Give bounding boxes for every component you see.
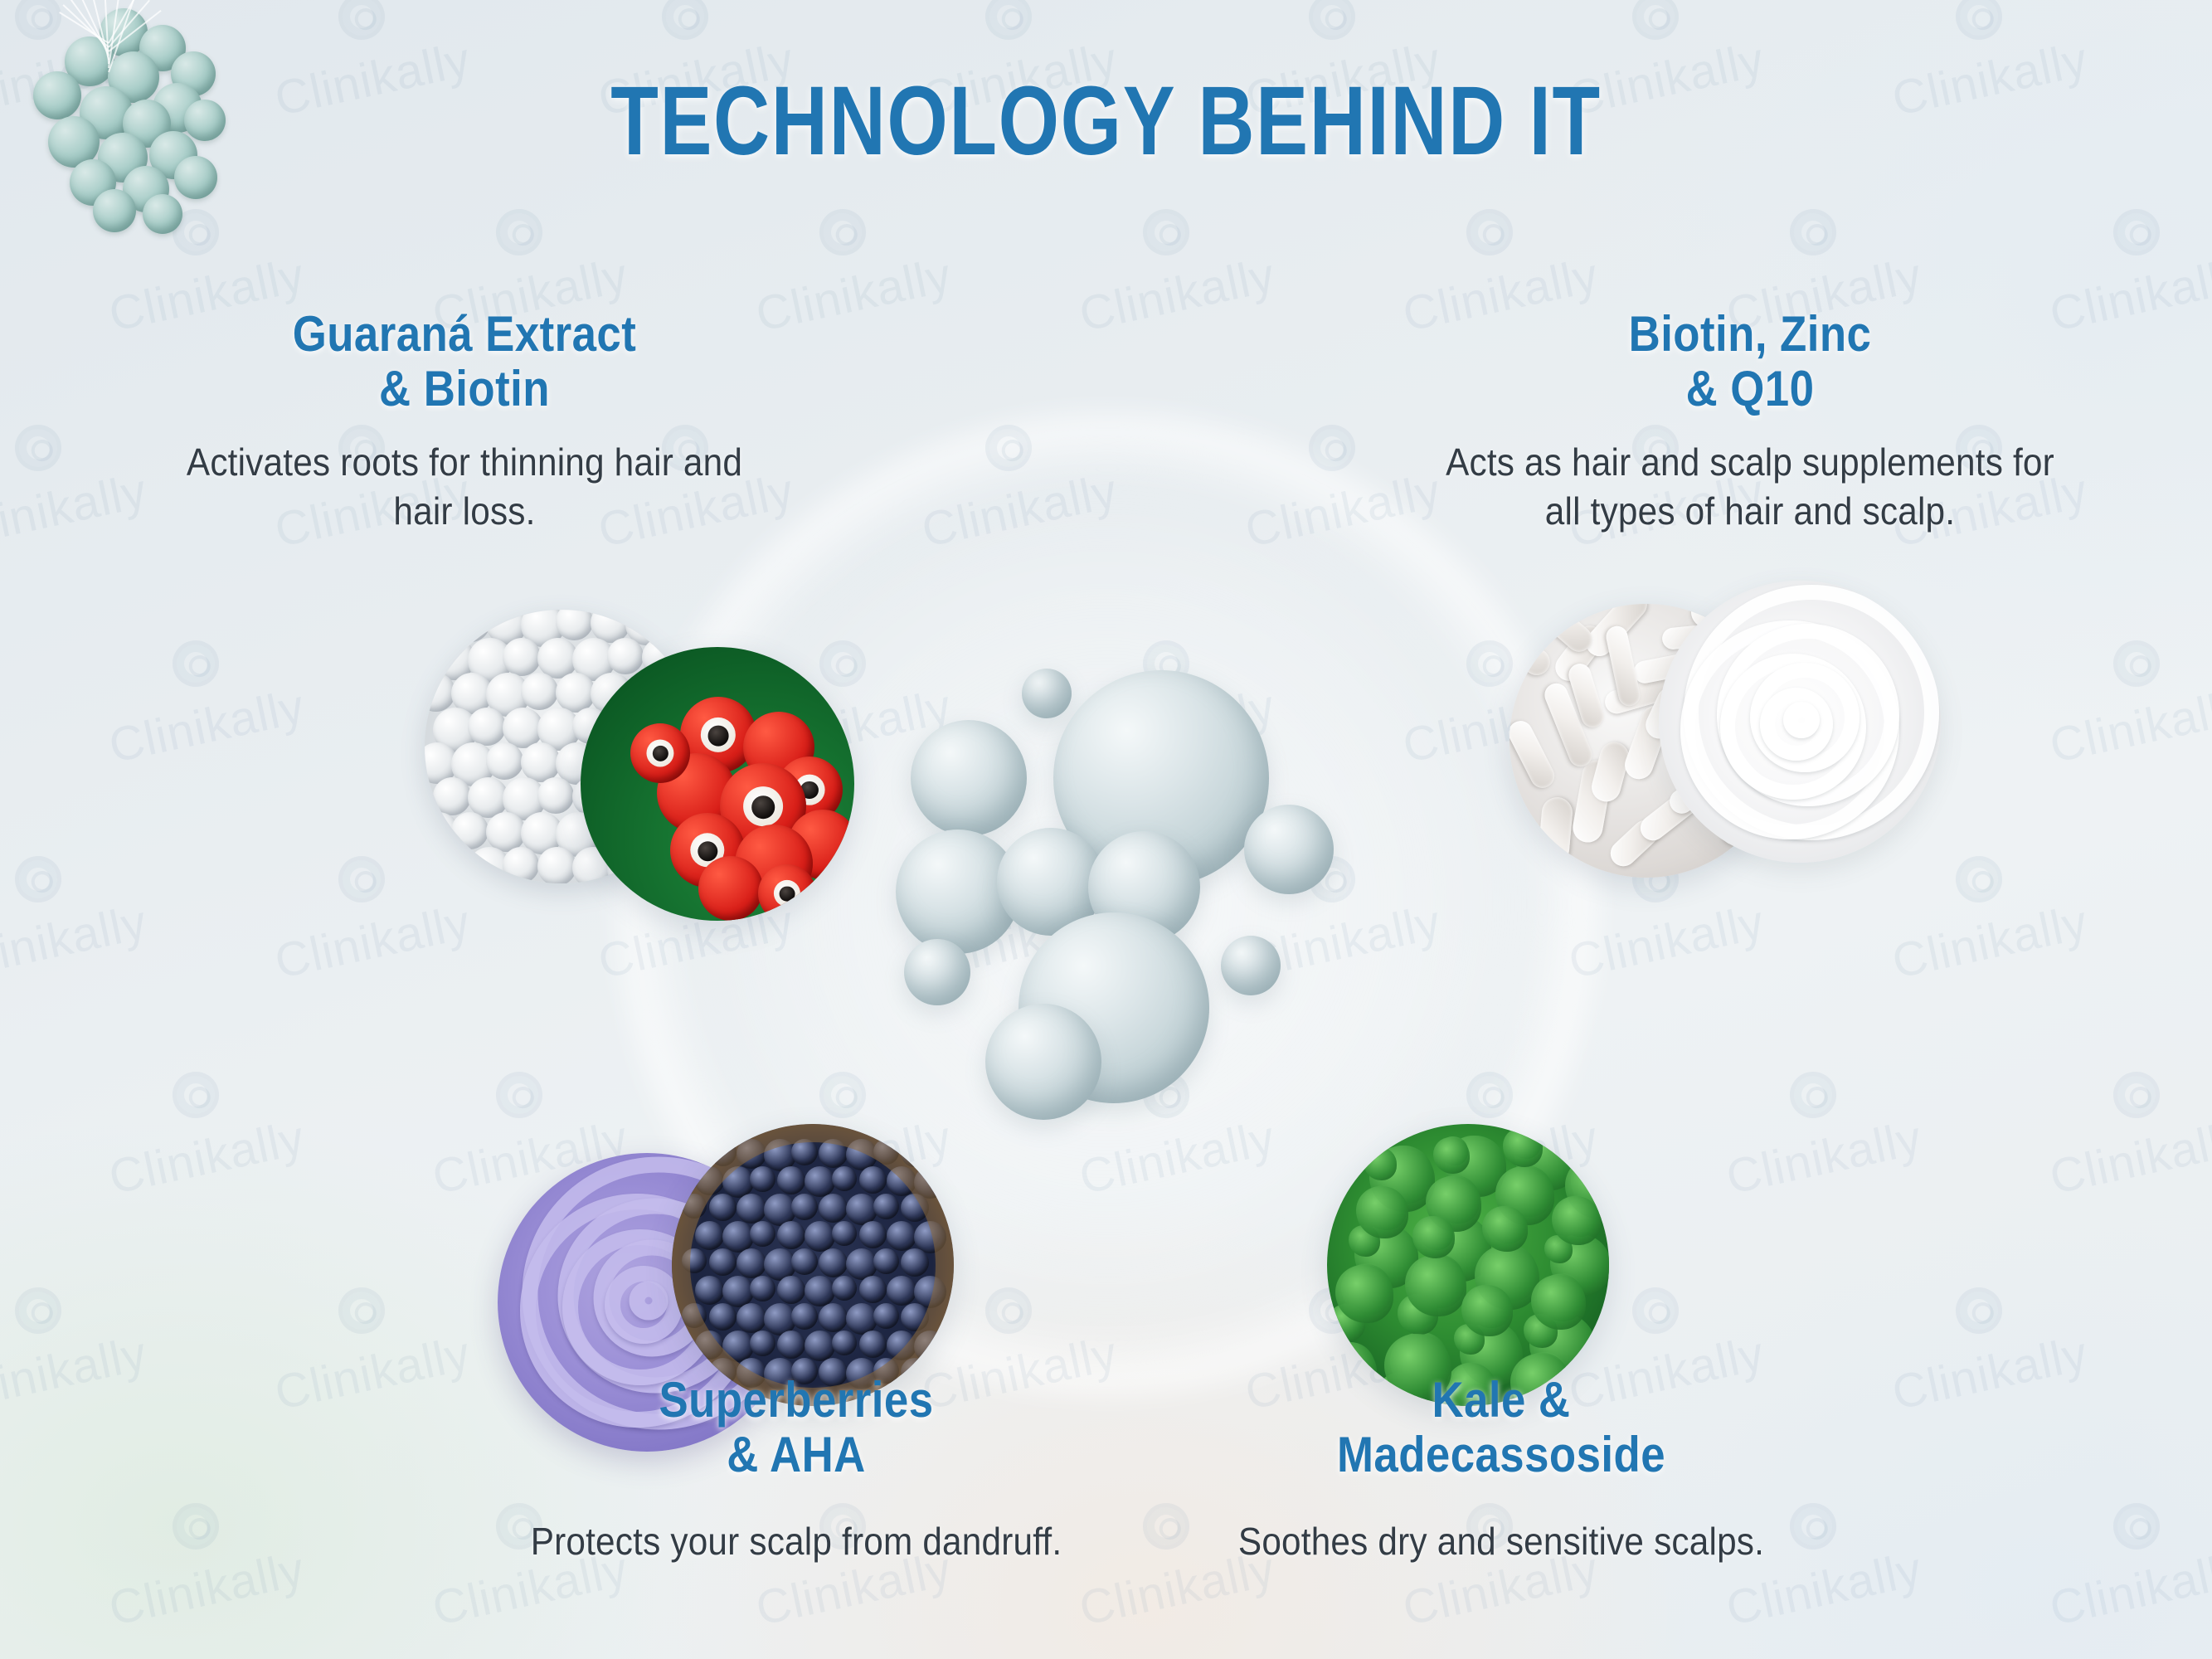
ingredient-block-bottom-left: Superberries & AHA Protects your scalp f… (448, 1373, 1145, 1566)
watermark-logo-icon (1628, 0, 1683, 44)
ingredient-description: Acts as hair and scalp supplements for a… (1437, 438, 2063, 536)
guarana-berry (758, 864, 816, 921)
watermark-logo-icon (334, 1283, 389, 1338)
molecule-sphere (904, 939, 970, 1005)
microbead (537, 777, 574, 814)
watermark-logo-icon (1952, 0, 2006, 44)
bowl-rim (672, 1124, 954, 1406)
microbead (521, 742, 561, 782)
kale-leaf (1503, 1127, 1543, 1167)
kale-leaf (1482, 1206, 1528, 1252)
ingredient-description: Activates roots for thinning hair and ha… (159, 438, 770, 536)
watermark-logo-icon (2109, 636, 2164, 691)
watermark-logo-icon (1628, 1283, 1683, 1338)
madecassoside-sphere (174, 156, 217, 199)
watermark-logo-icon (658, 0, 712, 44)
cream-swirl-rings (1659, 581, 1941, 863)
molecule-sphere-cluster (846, 630, 1377, 1161)
swirl-ring (1783, 702, 1820, 738)
molecule-sphere (1244, 805, 1334, 894)
ingredient-heading: Kale & Madecassoside (1188, 1373, 1816, 1482)
watermark-text: Clinikally (270, 894, 476, 990)
watermark-logo-icon (1462, 1068, 1517, 1122)
heading-line-2: & Q10 (1686, 361, 1815, 416)
capsule (1510, 717, 1558, 792)
watermark-text: Clinikally (1075, 247, 1281, 343)
microbead (486, 742, 523, 780)
watermark-text: Clinikally (2045, 1541, 2212, 1637)
watermark-logo-icon (11, 852, 66, 907)
madecassoside-sphere (143, 194, 182, 234)
ingredient-description: Soothes dry and sensitive scalps. (1173, 1517, 1829, 1566)
microbead (486, 812, 526, 852)
molecule-sphere (985, 1004, 1101, 1120)
watermark-logo-icon (492, 1068, 547, 1122)
heading-line-2: & AHA (727, 1427, 865, 1482)
heading-line-1: Kale & (1432, 1372, 1571, 1428)
watermark-text: Clinikally (2045, 1110, 2212, 1205)
watermark-logo-icon (1786, 205, 1840, 260)
ingredient-heading: Biotin, Zinc & Q10 (1451, 307, 2049, 416)
berry-seed (646, 739, 673, 766)
microbead (537, 847, 576, 883)
watermark-logo-icon (11, 1283, 66, 1338)
kale-leaf (1335, 1265, 1393, 1323)
microbead (433, 777, 471, 815)
microbead (556, 610, 593, 640)
kale-leaves-circle (1327, 1124, 1609, 1406)
watermark-text: Clinikally (917, 463, 1123, 558)
watermark-logo-icon (2109, 1499, 2164, 1554)
acai-berry (682, 1139, 707, 1164)
guarana-berry (630, 723, 690, 783)
microbead (503, 638, 541, 676)
watermark-logo-icon (168, 1499, 223, 1554)
berry-seed (774, 880, 800, 907)
microbead (503, 847, 539, 883)
watermark-logo-icon (2109, 205, 2164, 260)
watermark-text: Clinikally (270, 1326, 476, 1421)
watermark-logo-icon (168, 1068, 223, 1122)
watermark-logo-icon (1139, 205, 1194, 260)
watermark-logo-icon (2109, 1068, 2164, 1122)
madecassoside-sphere (184, 100, 226, 141)
microbead (425, 610, 453, 640)
watermark-logo-icon (334, 0, 389, 44)
madecassoside-molecule-cluster (0, 0, 249, 249)
watermark-logo-icon (492, 205, 547, 260)
kale-leaf-texture (1327, 1124, 1609, 1406)
kale-leaf (1552, 1196, 1601, 1245)
heading-line-2: & Biotin (379, 361, 550, 416)
watermark-logo-icon (11, 421, 66, 475)
heading-line-1: Biotin, Zinc (1629, 306, 1872, 362)
page-title: TECHNOLOGY BEHIND IT (221, 65, 1991, 178)
guarana-berry-cluster (581, 647, 854, 921)
madecassoside-sphere (93, 189, 136, 232)
molecule-sphere (1221, 936, 1281, 995)
ingredient-description: Protects your scalp from dandruff. (476, 1517, 1117, 1566)
ingredient-block-bottom-right: Kale & Madecassoside Soothes dry and sen… (1145, 1373, 1858, 1566)
kale-leaf (1531, 1275, 1586, 1330)
watermark-text: Clinikally (105, 1110, 310, 1205)
watermark-logo-icon (815, 205, 870, 260)
madecassoside-sphere (33, 71, 81, 119)
watermark-text: Clinikally (1564, 894, 1770, 990)
white-cream-swirl-circle (1659, 581, 1941, 863)
kale-leaf (1461, 1285, 1513, 1336)
berry-seed (701, 718, 736, 752)
microbead (451, 610, 490, 642)
molecule-sphere (911, 720, 1027, 836)
microbead (521, 673, 558, 710)
capsule (1538, 796, 1574, 866)
watermark-text: Clinikally (0, 894, 152, 990)
watermark-text: Clinikally (0, 1326, 152, 1421)
ingredient-heading: Superberries & AHA (489, 1373, 1102, 1482)
ingredient-block-top-left: Guaraná Extract & Biotin Activates roots… (133, 307, 796, 536)
heading-line-1: Superberries (659, 1372, 933, 1428)
watermark-text: Clinikally (105, 679, 310, 774)
heading-line-1: Guaraná Extract (293, 306, 637, 362)
kale-leaf (1405, 1255, 1466, 1316)
guarana-berries-circle (581, 647, 854, 921)
watermark-logo-icon (1952, 1283, 2006, 1338)
watermark-logo-icon (334, 852, 389, 907)
swirl-ring (630, 1282, 668, 1321)
watermark-text: Clinikally (0, 463, 152, 558)
kale-leaf (1356, 1186, 1408, 1238)
ingredient-block-top-right: Biotin, Zinc & Q10 Acts as hair and scal… (1410, 307, 2090, 536)
watermark-text: Clinikally (105, 1541, 310, 1637)
acai-berries-bowl-circle (672, 1124, 954, 1406)
capsule (1510, 604, 1529, 632)
watermark-text: Clinikally (1722, 1110, 1928, 1205)
watermark-logo-icon (981, 0, 1036, 44)
watermark-logo-icon (981, 421, 1036, 475)
watermark-text: Clinikally (1888, 1326, 2093, 1421)
kale-leaf (1433, 1137, 1470, 1174)
molecule-sphere (1022, 669, 1072, 718)
watermark-text: Clinikally (1888, 894, 2093, 990)
berry-seed (743, 786, 783, 826)
guarana-berry (698, 856, 763, 921)
capsule (1588, 739, 1632, 805)
watermark-logo-icon (168, 636, 223, 691)
watermark-logo-icon (1462, 205, 1517, 260)
watermark-logo-icon (1305, 421, 1359, 475)
microbead (468, 708, 506, 746)
watermark-logo-icon (1786, 1068, 1840, 1122)
watermark-logo-icon (1305, 0, 1359, 44)
capsule (1510, 627, 1555, 681)
ingredient-heading: Guaraná Extract & Biotin (173, 307, 756, 416)
kale-leaf (1412, 1216, 1455, 1258)
infographic-canvas: ClinikallyClinikallyClinikallyClinikally… (0, 0, 2212, 1659)
watermark-text: Clinikally (2045, 679, 2212, 774)
microbead (451, 812, 489, 849)
watermark-logo-icon (1952, 852, 2006, 907)
heading-line-2: Madecassoside (1337, 1427, 1665, 1482)
watermark-logo-icon (981, 1283, 1036, 1338)
